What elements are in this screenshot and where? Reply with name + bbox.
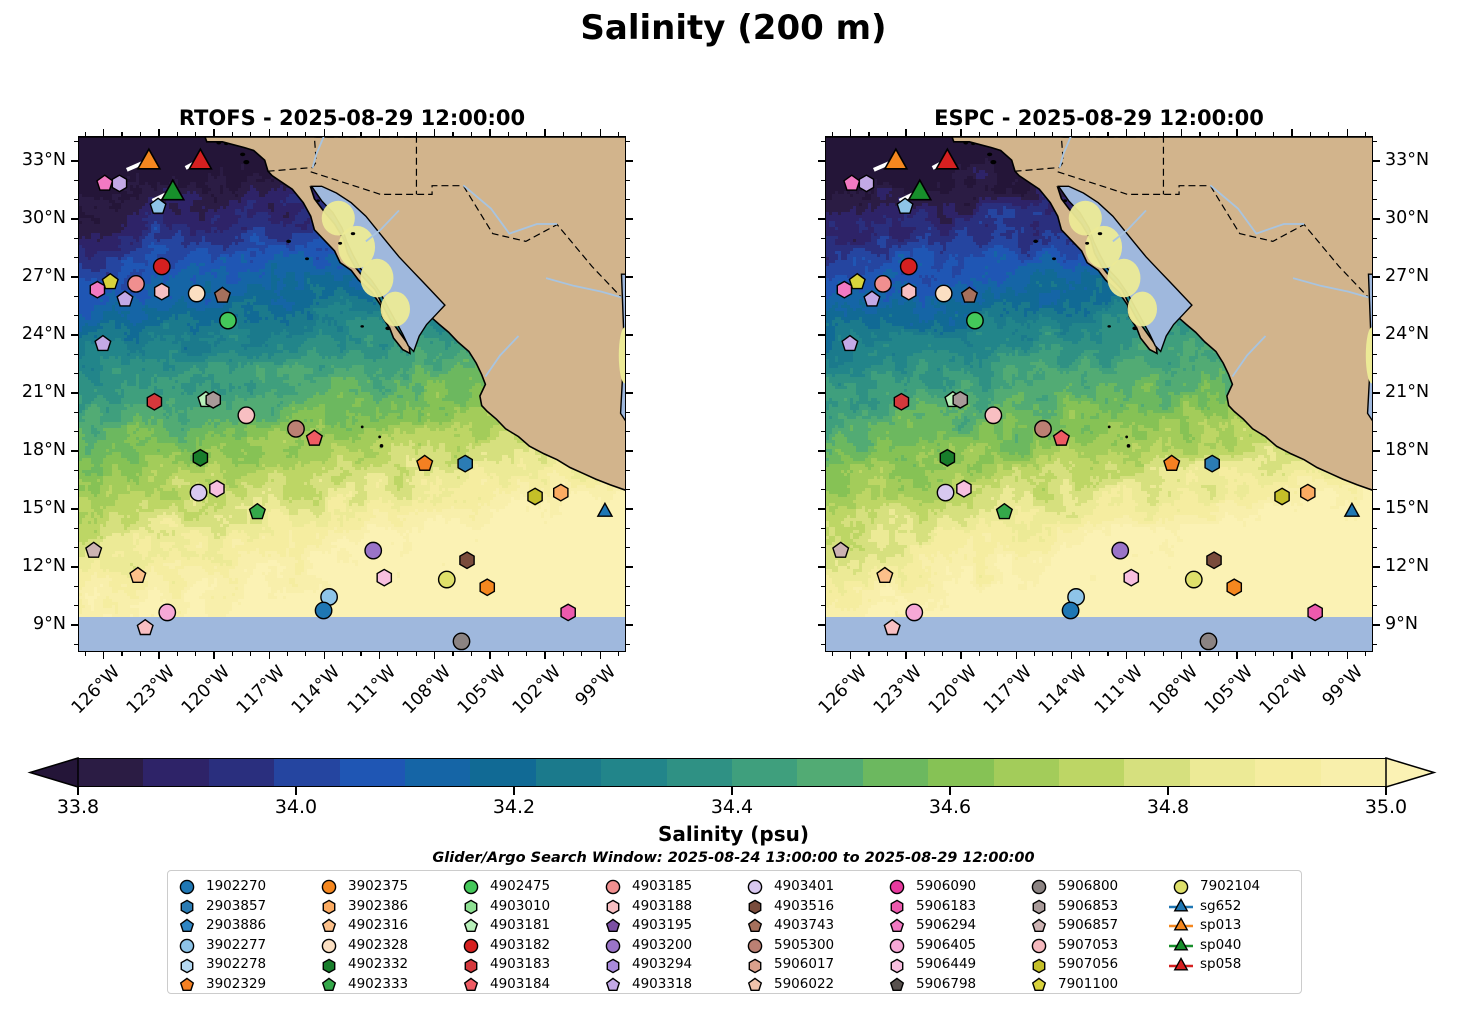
legend-label: sp058 [1200, 958, 1241, 972]
x-tick [979, 132, 980, 136]
legend-label: 4903184 [490, 978, 550, 992]
y-tick [71, 624, 78, 625]
platform-marker [188, 285, 204, 301]
y-tick [71, 450, 78, 451]
platform-marker [1308, 604, 1322, 620]
platform-marker [147, 394, 161, 410]
legend-marker-5906798-icon [884, 975, 910, 994]
legend-item-4902316[interactable]: 4902316 [316, 916, 458, 936]
legend-item-5906853[interactable]: 5906853 [1026, 897, 1168, 917]
legend-marker-4903184-icon [458, 975, 484, 994]
platform-marker [554, 484, 568, 500]
platform-marker [902, 283, 916, 299]
x-tick [140, 132, 141, 136]
legend-marker-2903857-icon [174, 897, 200, 916]
legend-item-4903195[interactable]: 4903195 [600, 916, 742, 936]
map-panel-espc: ESPC - 2025-08-29 12:00:00 [825, 136, 1373, 652]
y-tick [626, 180, 630, 181]
platform-marker [365, 542, 381, 558]
x-tick [1236, 129, 1237, 136]
x-tick [360, 652, 361, 656]
x-tick [158, 129, 159, 136]
legend-marker-4903318-icon [600, 975, 626, 994]
y-tick [1373, 141, 1377, 142]
legend-item-5906022[interactable]: 5906022 [742, 975, 884, 995]
y-tick [818, 566, 825, 567]
colorbar-tick-label: 33.8 [33, 796, 123, 818]
y-tick [74, 644, 78, 645]
legend-item-5906798[interactable]: 5906798 [884, 975, 1026, 995]
platform-marker [1205, 455, 1219, 471]
x-tick [979, 652, 980, 656]
legend-marker-5907053-icon [1026, 936, 1052, 955]
x-tick [868, 132, 869, 136]
legend-item-3902277[interactable]: 3902277 [174, 936, 316, 956]
legend-marker-sg652-icon [1168, 897, 1194, 916]
offshore-island [361, 425, 364, 428]
y-tick [1373, 392, 1380, 393]
legend-marker-3902329-icon [174, 975, 200, 994]
x-tick-label: 102°W [509, 662, 565, 718]
legend-item-4903010[interactable]: 4903010 [458, 897, 600, 917]
legend-item-7902104[interactable]: 7902104 [1168, 877, 1310, 897]
x-tick [177, 652, 178, 656]
legend-item-4902332[interactable]: 4902332 [316, 955, 458, 975]
platform-marker [315, 602, 331, 618]
legend-marker-5906853-icon [1026, 897, 1052, 916]
x-tick [452, 652, 453, 656]
x-tick [489, 129, 490, 136]
x-tick [1236, 652, 1237, 659]
y-tick-label: 9°N [0, 614, 66, 634]
x-tick [140, 652, 141, 656]
y-tick [821, 605, 825, 606]
y-tick [626, 547, 630, 548]
colorbar-extend-high [1386, 758, 1434, 787]
gulf-shelf-patch [1128, 292, 1157, 327]
x-tick [1071, 652, 1072, 659]
x-tick [563, 132, 564, 136]
y-tick [1373, 624, 1380, 625]
x-tick [1199, 132, 1200, 136]
legend-marker-5906017-icon [742, 956, 768, 975]
legend-label: 5906853 [1058, 900, 1118, 914]
x-tick [379, 129, 380, 136]
x-tick [887, 132, 888, 136]
legend-marker-5907056-icon [1026, 956, 1052, 975]
island [963, 141, 968, 144]
legend-item-3902386[interactable]: 3902386 [316, 897, 458, 917]
platform-marker [953, 392, 967, 408]
legend-item-1902270[interactable]: 1902270 [174, 877, 316, 897]
platform-marker [1207, 552, 1221, 568]
x-tick [177, 132, 178, 136]
legend-item-sg652[interactable]: sg652 [1168, 897, 1310, 917]
platform-marker [377, 569, 391, 585]
legend-label: 4902316 [348, 919, 408, 933]
legend-item-5905300[interactable]: 5905300 [742, 936, 884, 956]
legend-label: 4903185 [632, 880, 692, 894]
platform-marker [439, 571, 455, 587]
y-tick [71, 334, 78, 335]
panel-title-rtofs: RTOFS - 2025-08-29 12:00:00 [78, 106, 626, 130]
y-tick [626, 199, 630, 200]
legend-item-4903181[interactable]: 4903181 [458, 916, 600, 936]
x-tick [1218, 652, 1219, 656]
x-tick [471, 652, 472, 656]
y-tick [74, 257, 78, 258]
x-tick [213, 652, 214, 659]
platform-marker [220, 312, 236, 328]
legend-label: 5906017 [774, 958, 834, 972]
platform-marker [193, 450, 207, 466]
offshore-island [380, 444, 384, 448]
y-tick [74, 199, 78, 200]
y-tick [74, 315, 78, 316]
colorbar-tick [77, 787, 78, 795]
y-tick [74, 470, 78, 471]
x-tick [1163, 132, 1164, 136]
island [385, 327, 390, 331]
legend-item-4902333[interactable]: 4902333 [316, 975, 458, 995]
legend-label: 4903743 [774, 919, 834, 933]
platform-marker [154, 258, 170, 274]
island [1132, 327, 1137, 331]
map-canvas-rtofs[interactable] [78, 136, 626, 652]
legend-label: 3902386 [348, 900, 408, 914]
x-tick [287, 652, 288, 656]
legend-label: 3902277 [206, 939, 266, 953]
search-window-subtitle: Glider/Argo Search Window: 2025-08-24 13… [0, 850, 1467, 866]
colorbar-tick-label: 34.6 [905, 796, 995, 818]
legend-item-5906017[interactable]: 5906017 [742, 955, 884, 975]
legend-item-4903294[interactable]: 4903294 [600, 955, 742, 975]
legend-label: 5905300 [774, 939, 834, 953]
legend-item-4902328[interactable]: 4902328 [316, 936, 458, 956]
legend-item-2903886[interactable]: 2903886 [174, 916, 316, 936]
x-tick [342, 652, 343, 656]
x-tick [618, 132, 619, 136]
platform-marker [480, 579, 494, 595]
x-tick [1144, 132, 1145, 136]
gulf-shelf-patch [360, 259, 393, 298]
legend-label: sg652 [1200, 900, 1241, 914]
legend-item-4903200[interactable]: 4903200 [600, 936, 742, 956]
x-tick [269, 652, 270, 659]
colorbar-tick-label: 34.4 [687, 796, 777, 818]
y-tick [71, 508, 78, 509]
y-tick [821, 489, 825, 490]
y-tick [626, 624, 633, 625]
colorbar-tick [513, 787, 514, 795]
legend-marker-4903188-icon [600, 897, 626, 916]
legend-label: 4903188 [632, 900, 692, 914]
y-tick [74, 586, 78, 587]
legend-label: 7902104 [1200, 880, 1260, 894]
colorbar-tick-label: 34.8 [1123, 796, 1213, 818]
legend-item-4903184[interactable]: 4903184 [458, 975, 600, 995]
legend-marker-4903200-icon [600, 936, 626, 955]
legend-item-5906405[interactable]: 5906405 [884, 936, 1026, 956]
x-tick [850, 129, 851, 136]
legend-item-5907053[interactable]: 5907053 [1026, 936, 1168, 956]
legend-label: 2903886 [206, 919, 266, 933]
x-tick [1034, 652, 1035, 656]
x-tick [1052, 652, 1053, 656]
y-tick [626, 238, 630, 239]
legend-marker-4902332-icon [316, 956, 342, 975]
x-tick [397, 132, 398, 136]
x-tick [1328, 652, 1329, 656]
y-tick [818, 160, 825, 161]
x-tick [1181, 652, 1182, 659]
legend-label: 5906090 [916, 880, 976, 894]
platform-marker [288, 421, 304, 437]
x-tick [103, 652, 104, 659]
x-tick [1181, 129, 1182, 136]
x-tick [1310, 652, 1311, 656]
legend-label: 4903516 [774, 900, 834, 914]
legend-label: 5906183 [916, 900, 976, 914]
x-tick [85, 652, 86, 656]
y-tick [1373, 450, 1380, 451]
x-tick [924, 132, 925, 136]
platform-marker [1035, 421, 1051, 437]
x-tick-label: 111°W [344, 662, 400, 718]
legend-item-sp058[interactable]: sp058 [1168, 955, 1310, 975]
y-tick [1373, 160, 1380, 161]
legend-item-sp013[interactable]: sp013 [1168, 916, 1310, 936]
legend-label: 5906800 [1058, 880, 1118, 894]
island [1063, 199, 1067, 202]
platform-marker [859, 175, 873, 191]
y-tick [821, 315, 825, 316]
legend-marker-sp058-icon [1168, 956, 1194, 975]
legend-item-3902278[interactable]: 3902278 [174, 955, 316, 975]
legend-item-3902329[interactable]: 3902329 [174, 975, 316, 995]
legend-item-5906800[interactable]: 5906800 [1026, 877, 1168, 897]
legend-item-4903185[interactable]: 4903185 [600, 877, 742, 897]
y-tick [821, 141, 825, 142]
island [971, 142, 975, 145]
platform-marker [1200, 633, 1216, 649]
legend-marker-5906405-icon [884, 936, 910, 955]
y-tick [821, 354, 825, 355]
y-tick [1373, 373, 1377, 374]
platform-marker [967, 312, 983, 328]
x-tick-label: 126°W [68, 662, 124, 718]
legend-label: 4903195 [632, 919, 692, 933]
legend-label: 7901100 [1058, 978, 1118, 992]
x-tick [324, 129, 325, 136]
y-tick [626, 373, 630, 374]
y-tick [1373, 276, 1380, 277]
legend-marker-3902277-icon [174, 936, 200, 955]
y-tick-label: 12°N [1385, 556, 1429, 576]
island [1098, 232, 1102, 235]
x-tick [1347, 129, 1348, 136]
legend-label: 4903401 [774, 880, 834, 894]
x-tick-label: 117°W [233, 662, 289, 718]
platform-marker [528, 488, 542, 504]
platform-marker [159, 604, 175, 620]
x-tick [250, 132, 251, 136]
legend-item-2903857[interactable]: 2903857 [174, 897, 316, 917]
y-tick [1373, 508, 1380, 509]
x-tick [887, 652, 888, 656]
legend-item-4903188[interactable]: 4903188 [600, 897, 742, 917]
legend-item-7901100[interactable]: 7901100 [1026, 975, 1168, 995]
legend-label: 4903181 [490, 919, 550, 933]
island [990, 160, 996, 164]
island [316, 199, 320, 202]
platform-marker [112, 175, 126, 191]
offshore-island [1125, 436, 1128, 439]
colorbar-tick-label: 34.2 [469, 796, 559, 818]
y-tick [626, 605, 630, 606]
x-tick [232, 652, 233, 656]
legend-marker-4902328-icon [316, 936, 342, 955]
map-canvas-espc[interactable] [825, 136, 1373, 652]
y-tick [1373, 412, 1377, 413]
legend-item-4903183[interactable]: 4903183 [458, 955, 600, 975]
legend-label: 4902333 [348, 978, 408, 992]
x-tick [195, 652, 196, 656]
x-tick [1052, 132, 1053, 136]
figure-suptitle: Salinity (200 m) [0, 8, 1467, 48]
offshore-island [378, 436, 381, 439]
y-tick [821, 528, 825, 529]
legend-item-5906183[interactable]: 5906183 [884, 897, 1026, 917]
x-tick [85, 132, 86, 136]
legend-item-5906090[interactable]: 5906090 [884, 877, 1026, 897]
y-tick [71, 392, 78, 393]
legend-marker-4903182-icon [458, 936, 484, 955]
y-tick [821, 296, 825, 297]
legend-item-5906294[interactable]: 5906294 [884, 916, 1026, 936]
y-tick [818, 334, 825, 335]
legend-item-4903318[interactable]: 4903318 [600, 975, 742, 995]
y-tick-label: 15°N [0, 498, 66, 518]
legend-marker-4903181-icon [458, 916, 484, 935]
colorbar-tick [949, 787, 950, 795]
x-tick [1199, 652, 1200, 656]
x-tick [1107, 132, 1108, 136]
x-tick [600, 652, 601, 659]
legend-item-5906449[interactable]: 5906449 [884, 955, 1026, 975]
legend-item-4903182[interactable]: 4903182 [458, 936, 600, 956]
legend-marker-sp013-icon [1168, 916, 1194, 935]
y-tick [626, 392, 633, 393]
island [1107, 325, 1111, 328]
x-tick-label: 120°W [178, 662, 234, 718]
y-tick [74, 296, 78, 297]
y-tick [1373, 296, 1377, 297]
platform-marker [1227, 579, 1241, 595]
x-tick [850, 652, 851, 659]
x-tick [942, 132, 943, 136]
x-tick-label: 108°W [1146, 662, 1202, 718]
legend-item-4903401[interactable]: 4903401 [742, 877, 884, 897]
y-tick-label: 9°N [1385, 614, 1418, 634]
x-tick [452, 132, 453, 136]
map-svg-espc [826, 137, 1373, 652]
y-tick [626, 257, 630, 258]
x-tick [1310, 132, 1311, 136]
platform-marker [210, 481, 224, 497]
x-tick [158, 652, 159, 659]
y-tick [1373, 257, 1377, 258]
y-tick [1373, 431, 1377, 432]
legend-marker-4903010-icon [458, 897, 484, 916]
platform-marker [937, 484, 953, 500]
legend-item-4902475[interactable]: 4902475 [458, 877, 600, 897]
legend-label: 5906857 [1058, 919, 1118, 933]
x-tick-label: 105°W [1201, 662, 1257, 718]
y-tick [626, 489, 630, 490]
y-tick [74, 489, 78, 490]
legend-item-sp040[interactable]: sp040 [1168, 936, 1310, 956]
x-tick [324, 652, 325, 659]
x-tick [1126, 129, 1127, 136]
legend-item-5906857[interactable]: 5906857 [1026, 916, 1168, 936]
legend-label: 4903182 [490, 939, 550, 953]
legend-marker-4903195-icon [600, 916, 626, 935]
y-tick [626, 586, 630, 587]
colorbar-tick-label: 35.0 [1341, 796, 1431, 818]
legend-label: 4902328 [348, 939, 408, 953]
island [1052, 257, 1056, 260]
x-tick [416, 132, 417, 136]
legend-item-4903743[interactable]: 4903743 [742, 916, 884, 936]
x-tick [305, 652, 306, 656]
y-tick [626, 412, 630, 413]
colorbar-tick [1167, 787, 1168, 795]
x-tick-label: 117°W [980, 662, 1036, 718]
y-tick [821, 412, 825, 413]
platform-marker [1186, 571, 1202, 587]
legend-label: 4903318 [632, 978, 692, 992]
legend-marker-4903516-icon [742, 897, 768, 916]
platform-marker [128, 276, 144, 292]
x-tick [1291, 129, 1292, 136]
y-tick [818, 508, 825, 509]
legend-label: 2903857 [206, 900, 266, 914]
x-tick-label: 111°W [1091, 662, 1147, 718]
legend-marker-5905300-icon [742, 936, 768, 955]
x-tick [250, 652, 251, 656]
platform-marker [206, 392, 220, 408]
legend-item-5907056[interactable]: 5907056 [1026, 955, 1168, 975]
legend-item-3902375[interactable]: 3902375 [316, 877, 458, 897]
y-tick [1373, 528, 1377, 529]
y-tick [1373, 566, 1380, 567]
platform-marker [837, 281, 851, 297]
y-tick [1373, 354, 1377, 355]
legend-label: sp013 [1200, 919, 1241, 933]
legend-label: 5906798 [916, 978, 976, 992]
x-tick [1365, 652, 1366, 656]
platform-marker [985, 407, 1001, 423]
legend-item-4903516[interactable]: 4903516 [742, 897, 884, 917]
legend-marker-5906090-icon [884, 877, 910, 896]
x-tick [997, 652, 998, 656]
legend-marker-7902104-icon [1168, 877, 1194, 896]
y-tick [818, 624, 825, 625]
legend-marker-2903886-icon [174, 916, 200, 935]
y-tick [626, 470, 630, 471]
platform-marker [90, 281, 104, 297]
